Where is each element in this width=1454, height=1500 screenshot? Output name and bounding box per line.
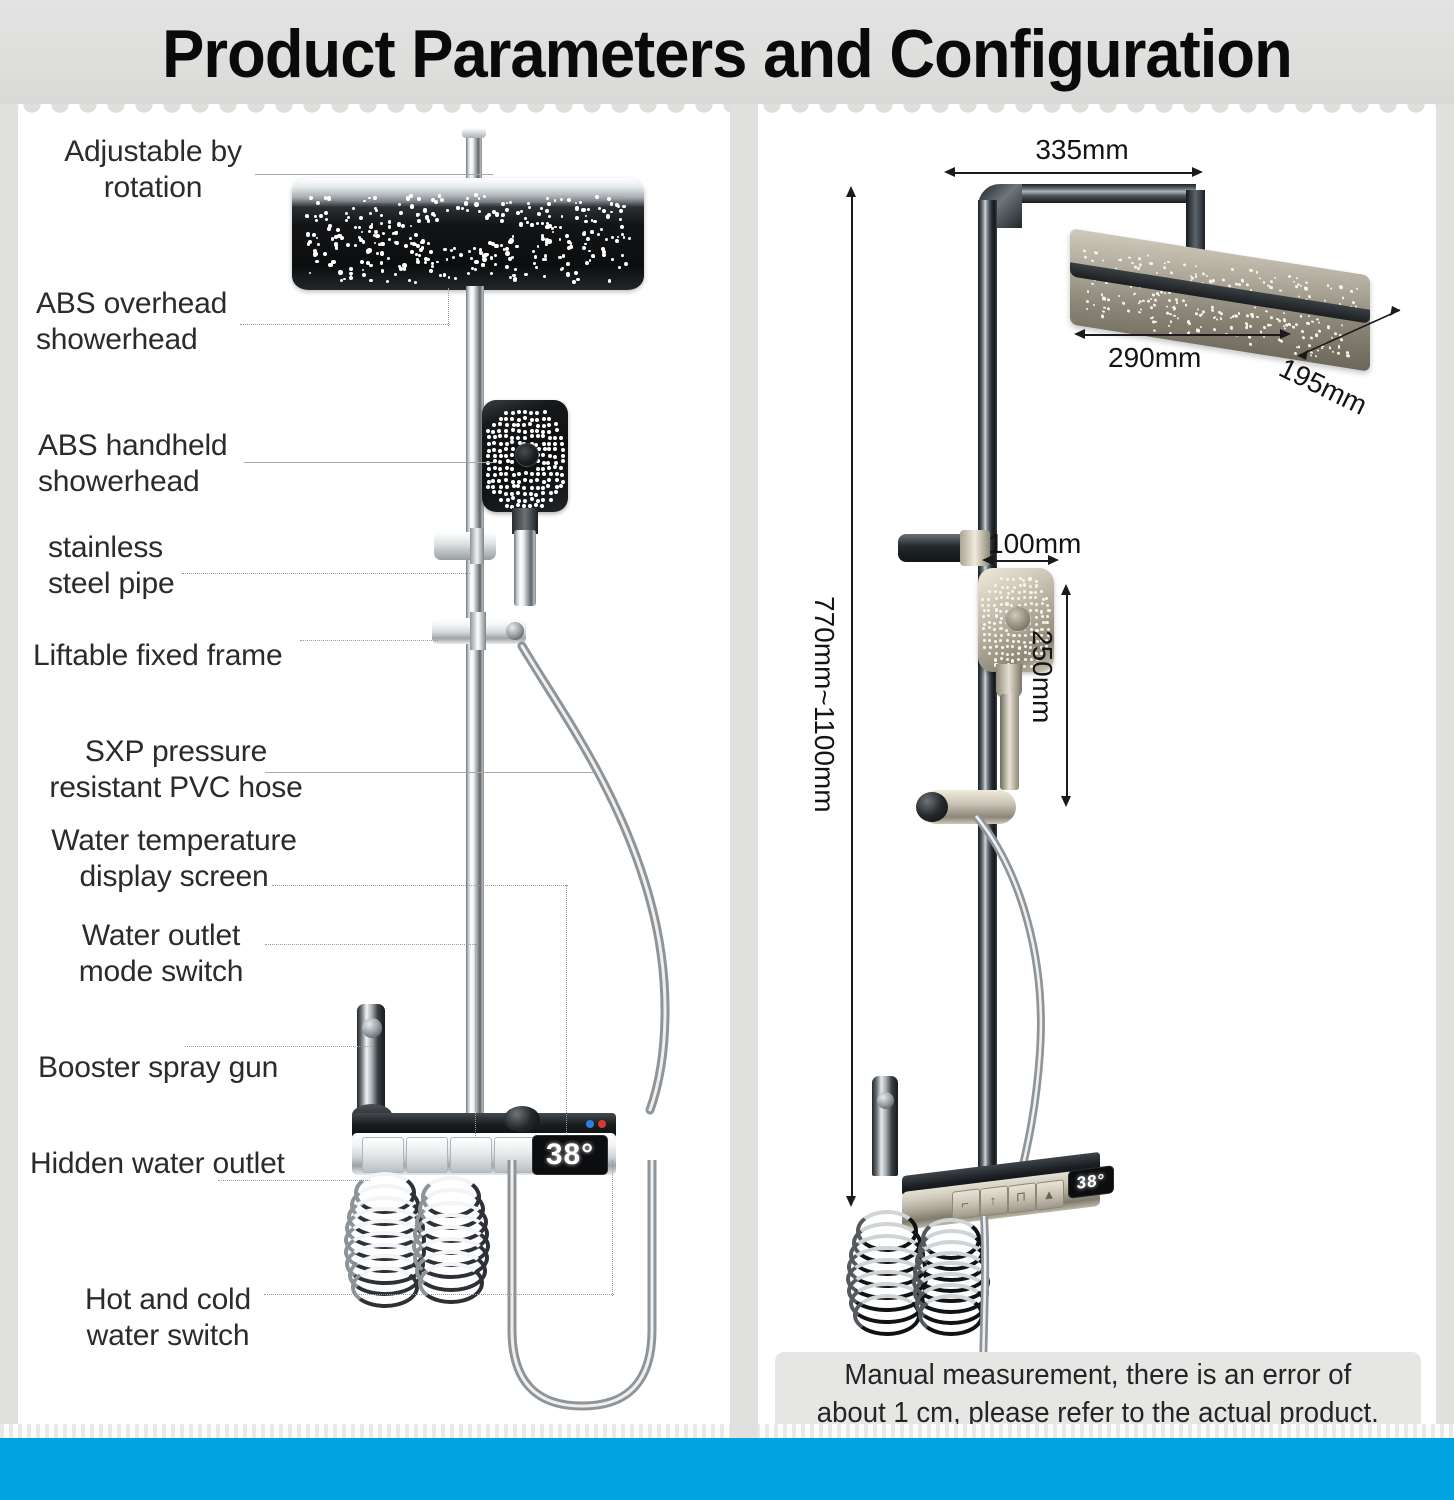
- leader-hot-cold-switch-v: [612, 1160, 613, 1296]
- inlet-cap: [462, 128, 486, 138]
- frame-collar: [470, 612, 486, 650]
- booster-spray-gun-right[interactable]: [872, 1076, 898, 1176]
- dimarrow-arm-reach-right: [1192, 167, 1203, 177]
- leader-temp-display: [272, 885, 568, 886]
- leader-temp-display-v: [566, 885, 567, 1133]
- mode-button-2[interactable]: [406, 1137, 448, 1173]
- handheld-handle-right: [1000, 694, 1019, 790]
- dimtext-handheld-length: 250mm: [1026, 630, 1058, 723]
- handheld-holder-bracket[interactable]: [434, 532, 496, 560]
- leader-hot-cold-switch: [264, 1294, 614, 1295]
- mode-button-1[interactable]: [362, 1137, 404, 1173]
- label-water-temperature-display-screen: Water temperature display screen: [34, 823, 314, 895]
- dimline-head-depth: [1290, 300, 1410, 364]
- bracket-collar: [470, 528, 484, 564]
- dimline-handheld-width: [988, 560, 1054, 562]
- title-bar: Product Parameters and Configuration: [0, 0, 1454, 110]
- leader-handheld-showerhead: [244, 462, 494, 463]
- dimtext-head-width: 290mm: [1108, 342, 1201, 374]
- dimline-arm-reach: [950, 172, 1198, 174]
- dimtext-height-range: 770mm~1100mm: [808, 596, 840, 813]
- overhead-up-icon: ▲: [1036, 1179, 1062, 1208]
- label-abs-handheld-showerhead: ABS handheld showerhead: [38, 428, 268, 500]
- dimtext-arm-reach: 335mm: [1002, 134, 1162, 166]
- label-sxp-pressure-resistant-pvc-hose: SXP pressure resistant PVC hose: [42, 734, 310, 806]
- handheld-up-icon: ↑: [980, 1185, 1006, 1214]
- leader-overhead-showerhead: [240, 324, 450, 325]
- bottom-sawtooth-gap: [730, 1424, 758, 1438]
- leader-pvc-hose: [265, 772, 595, 773]
- label-hot-and-cold-water-switch: Hot and cold water switch: [48, 1282, 288, 1354]
- dimarrow-handheld-length-bottom: [1061, 796, 1071, 807]
- pvc-hose-right: [960, 812, 1080, 1182]
- handheld-showerhead: [482, 400, 568, 512]
- page-title: Product Parameters and Configuration: [51, 16, 1403, 92]
- leader-mode-switch: [265, 944, 477, 945]
- nozzle-pattern: [292, 178, 644, 290]
- leader-mode-switch-v: [475, 944, 476, 1138]
- coiled-hose-right-panel: [846, 1210, 920, 1328]
- label-adjustable-by-rotation: Adjustable by rotation: [38, 134, 268, 206]
- label-liftable-fixed-frame: Liftable fixed frame: [33, 638, 323, 674]
- cold-indicator-icon: [586, 1120, 594, 1128]
- dimarrow-height-top: [846, 186, 856, 197]
- spray-gun-button-right[interactable]: [877, 1092, 894, 1109]
- panel-scallop-edge: [18, 104, 730, 122]
- dimline-handheld-length: [1066, 594, 1068, 796]
- handheld-handle: [514, 530, 536, 606]
- hot-cold-water-switch[interactable]: [504, 1106, 540, 1132]
- panel-divider: [730, 104, 758, 1440]
- hidden-water-outlet-hose: [486, 1160, 686, 1420]
- bottom-sawtooth-edge: [0, 1424, 1454, 1438]
- sxp-pvc-hose: [500, 640, 700, 1140]
- coiled-hose-right: [412, 1176, 482, 1296]
- coiled-hose-left: [344, 1172, 418, 1300]
- label-hidden-water-outlet: Hidden water outlet: [30, 1146, 330, 1182]
- hose-outlet-knob[interactable]: [916, 792, 948, 822]
- temperature-value-right: 38°: [1077, 1170, 1106, 1194]
- overhead-showerhead: [292, 178, 644, 290]
- spray-gun-button[interactable]: [362, 1018, 382, 1038]
- handheld-neck-right: [996, 664, 1022, 698]
- label-water-outlet-mode-switch: Water outlet mode switch: [52, 918, 270, 990]
- diagram-canvas: Product Parameters and Configuration: [0, 0, 1454, 1500]
- dimarrow-head-width-left: [1074, 329, 1085, 339]
- leader-adjustable-rotation: [255, 174, 493, 175]
- handheld-mode-hub: [515, 443, 539, 467]
- dimarrow-handheld-length-top: [1061, 584, 1071, 595]
- dimtext-handheld-width: 100mm: [988, 528, 1081, 560]
- water-temperature-display-right: 38°: [1068, 1165, 1114, 1199]
- label-abs-overhead-showerhead: ABS overhead showerhead: [36, 286, 266, 358]
- hidden-outlet-icon: ⊓: [1008, 1182, 1034, 1211]
- shower-arm-horizontal: [1010, 184, 1196, 203]
- label-booster-spray-gun: Booster spray gun: [38, 1050, 338, 1086]
- spray-gun-icon: ⌐: [952, 1188, 978, 1217]
- handheld-mode-hub-right: [1005, 606, 1031, 632]
- dimarrow-height-bottom: [846, 1196, 856, 1207]
- bottom-accent-bar: [0, 1438, 1454, 1500]
- frame-lock-knob[interactable]: [506, 622, 524, 640]
- dimline-height-range: [851, 196, 853, 1196]
- dimline-head-width: [1080, 334, 1286, 336]
- left-margin-strip: [0, 104, 18, 1440]
- hot-indicator-icon: [598, 1120, 606, 1128]
- panel-scallop-edge: [758, 104, 1436, 122]
- disclaimer-text: Manual measurement, there is an error of…: [817, 1356, 1379, 1432]
- label-stainless-steel-pipe: stainless steel pipe: [48, 530, 248, 602]
- leader-booster-spray-gun: [185, 1046, 372, 1047]
- right-margin-strip: [1436, 104, 1454, 1440]
- leader-overhead-showerhead-v: [448, 288, 449, 326]
- dimarrow-arm-reach-left: [944, 167, 955, 177]
